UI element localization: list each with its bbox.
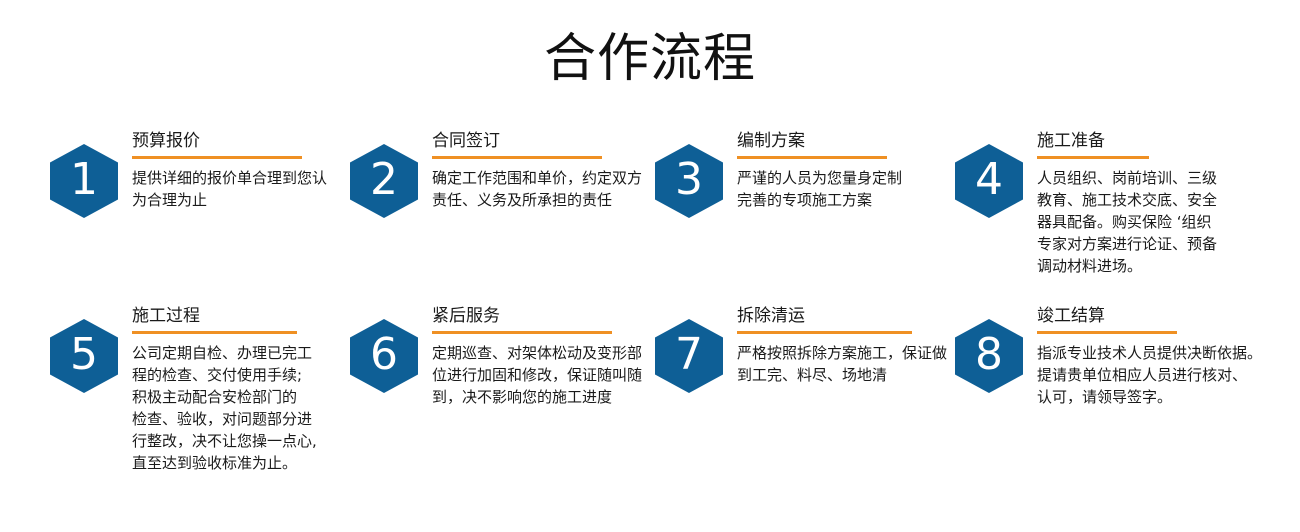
step-divider-rule (132, 331, 297, 334)
step-title: 合同签订 (432, 130, 642, 156)
desc-line: 专家对方案进行论证、预备 (1037, 233, 1217, 255)
step-description: 人员组织、岗前培训、三级 教育、施工技术交底、安全 器具配备。购买保险 ‘组织 … (1037, 167, 1217, 277)
step-description: 公司定期自检、办理已完工 程的检查、交付使用手续; 积极主动配合安检部门的 检查… (132, 342, 317, 474)
step-description: 定期巡查、对架体松动及变形部 位进行加固和修改，保证随叫随 到，决不影响您的施工… (432, 342, 642, 408)
desc-line: 调动材料进场。 (1037, 255, 1217, 277)
step-text-block-3: 编制方案 严谨的人员为您量身定制 完善的专项施工方案 (737, 130, 902, 211)
step-text-block-5: 施工过程 公司定期自检、办理已完工 程的检查、交付使用手续; 积极主动配合安检部… (132, 305, 317, 474)
desc-line: 教育、施工技术交底、安全 (1037, 189, 1217, 211)
step-card-5[interactable]: 5 施工过程 公司定期自检、办理已完工 程的检查、交付使用手续; 积极主动配合安… (50, 305, 317, 474)
step-number: 7 (655, 319, 723, 393)
steps-grid: 1 预算报价 提供详细的报价单合理到您认 为合理为止 (0, 130, 1300, 525)
step-title: 施工准备 (1037, 130, 1217, 156)
step-card-4[interactable]: 4 施工准备 人员组织、岗前培训、三级 教育、施工技术交底、安全 器具配备。购买… (955, 130, 1217, 277)
step-number: 5 (50, 319, 118, 393)
desc-line: 器具配备。购买保险 ‘组织 (1037, 211, 1217, 233)
hexagon-badge-5: 5 (50, 319, 118, 393)
step-divider-rule (1037, 156, 1149, 159)
step-divider-rule (1037, 331, 1177, 334)
step-divider-rule (432, 331, 612, 334)
step-card-2[interactable]: 2 合同签订 确定工作范围和单价，约定双方 责任、义务及所承担的责任 (350, 130, 642, 218)
step-text-block-6: 紧后服务 定期巡查、对架体松动及变形部 位进行加固和修改，保证随叫随 到，决不影… (432, 305, 642, 408)
step-title: 竣工结算 (1037, 305, 1262, 331)
desc-line: 行整改，决不让您操一点心, (132, 430, 317, 452)
step-title: 拆除清运 (737, 305, 947, 331)
step-text-block-4: 施工准备 人员组织、岗前培训、三级 教育、施工技术交底、安全 器具配备。购买保险… (1037, 130, 1217, 277)
cooperation-process-infographic: 合作流程 1 预算报价 提供详细的报价单合理到您认 为合理为止 (0, 0, 1300, 532)
hexagon-badge-6: 6 (350, 319, 418, 393)
step-number: 4 (955, 144, 1023, 218)
desc-line: 责任、义务及所承担的责任 (432, 189, 642, 211)
step-card-1[interactable]: 1 预算报价 提供详细的报价单合理到您认 为合理为止 (50, 130, 327, 218)
desc-line: 直至达到验收标准为止。 (132, 452, 317, 474)
desc-line: 认可，请领导签字。 (1037, 386, 1262, 408)
desc-line: 积极主动配合安检部门的 (132, 386, 317, 408)
step-text-block-1: 预算报价 提供详细的报价单合理到您认 为合理为止 (132, 130, 327, 211)
desc-line: 位进行加固和修改，保证随叫随 (432, 364, 642, 386)
desc-line: 公司定期自检、办理已完工 (132, 342, 317, 364)
desc-line: 严格按照拆除方案施工，保证做 (737, 342, 947, 364)
steps-row-2: 5 施工过程 公司定期自检、办理已完工 程的检查、交付使用手续; 积极主动配合安… (0, 305, 1300, 525)
step-description: 确定工作范围和单价，约定双方 责任、义务及所承担的责任 (432, 167, 642, 211)
step-number: 2 (350, 144, 418, 218)
step-card-7[interactable]: 7 拆除清运 严格按照拆除方案施工，保证做 到工完、料尽、场地清 (655, 305, 947, 393)
step-divider-rule (432, 156, 602, 159)
desc-line: 确定工作范围和单价，约定双方 (432, 167, 642, 189)
step-text-block-8: 竣工结算 指派专业技术人员提供决断依据。 提请贵单位相应人员进行核对、 认可，请… (1037, 305, 1262, 408)
step-title: 预算报价 (132, 130, 327, 156)
desc-line: 指派专业技术人员提供决断依据。 (1037, 342, 1262, 364)
step-description: 提供详细的报价单合理到您认 为合理为止 (132, 167, 327, 211)
step-number: 3 (655, 144, 723, 218)
hexagon-badge-2: 2 (350, 144, 418, 218)
hexagon-badge-8: 8 (955, 319, 1023, 393)
hexagon-badge-3: 3 (655, 144, 723, 218)
step-description: 严格按照拆除方案施工，保证做 到工完、料尽、场地清 (737, 342, 947, 386)
hexagon-badge-4: 4 (955, 144, 1023, 218)
step-number: 6 (350, 319, 418, 393)
desc-line: 到，决不影响您的施工进度 (432, 386, 642, 408)
step-title: 施工过程 (132, 305, 317, 331)
hexagon-badge-1: 1 (50, 144, 118, 218)
step-divider-rule (132, 156, 302, 159)
step-number: 1 (50, 144, 118, 218)
desc-line: 程的检查、交付使用手续; (132, 364, 317, 386)
desc-line: 人员组织、岗前培训、三级 (1037, 167, 1217, 189)
desc-line: 严谨的人员为您量身定制 (737, 167, 902, 189)
page-title: 合作流程 (0, 26, 1300, 92)
step-card-8[interactable]: 8 竣工结算 指派专业技术人员提供决断依据。 提请贵单位相应人员进行核对、 认可… (955, 305, 1262, 408)
step-title: 编制方案 (737, 130, 902, 156)
step-card-3[interactable]: 3 编制方案 严谨的人员为您量身定制 完善的专项施工方案 (655, 130, 902, 218)
desc-line: 为合理为止 (132, 189, 327, 211)
desc-line: 定期巡查、对架体松动及变形部 (432, 342, 642, 364)
desc-line: 提请贵单位相应人员进行核对、 (1037, 364, 1262, 386)
hexagon-badge-7: 7 (655, 319, 723, 393)
step-divider-rule (737, 331, 912, 334)
step-text-block-2: 合同签订 确定工作范围和单价，约定双方 责任、义务及所承担的责任 (432, 130, 642, 211)
steps-row-1: 1 预算报价 提供详细的报价单合理到您认 为合理为止 (0, 130, 1300, 305)
desc-line: 到工完、料尽、场地清 (737, 364, 947, 386)
step-text-block-7: 拆除清运 严格按照拆除方案施工，保证做 到工完、料尽、场地清 (737, 305, 947, 386)
step-card-6[interactable]: 6 紧后服务 定期巡查、对架体松动及变形部 位进行加固和修改，保证随叫随 到，决… (350, 305, 642, 408)
step-title: 紧后服务 (432, 305, 642, 331)
desc-line: 检查、验收，对问题部分进 (132, 408, 317, 430)
step-description: 严谨的人员为您量身定制 完善的专项施工方案 (737, 167, 902, 211)
step-divider-rule (737, 156, 887, 159)
desc-line: 完善的专项施工方案 (737, 189, 902, 211)
step-description: 指派专业技术人员提供决断依据。 提请贵单位相应人员进行核对、 认可，请领导签字。 (1037, 342, 1262, 408)
step-number: 8 (955, 319, 1023, 393)
desc-line: 提供详细的报价单合理到您认 (132, 167, 327, 189)
